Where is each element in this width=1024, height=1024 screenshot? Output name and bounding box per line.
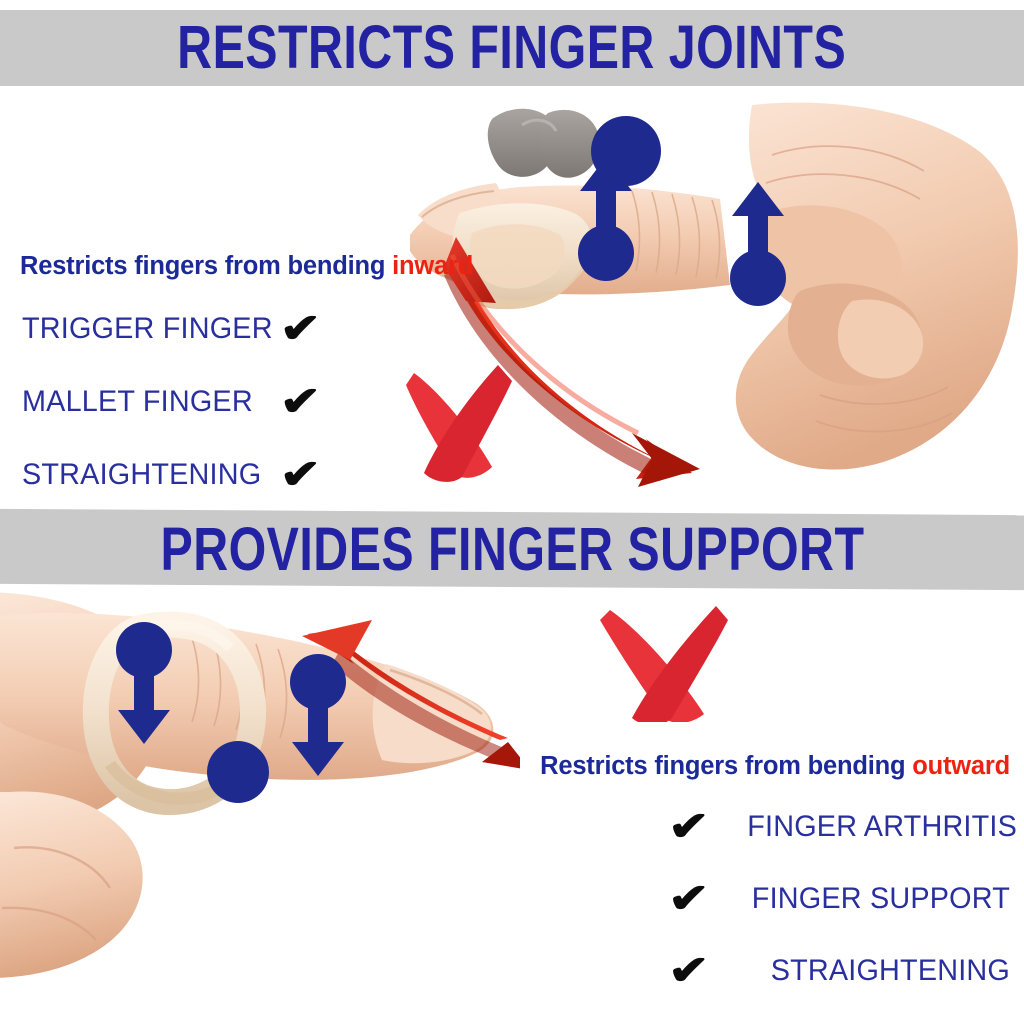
list-item-label: FINGER ARTHRITIS — [747, 810, 1017, 844]
pin-dot-center — [590, 115, 662, 187]
pin-down-right — [290, 654, 346, 778]
top-photo-illustration — [400, 95, 1024, 510]
list-item: ✔ FINGER ARTHRITIS — [672, 798, 1010, 856]
headline-prefix-bottom: Restricts fingers from bending — [540, 752, 912, 780]
list-item-label: STRAIGHTENING — [22, 458, 264, 492]
check-icon: ✔ — [280, 309, 321, 349]
headline-accent-inward: inward — [392, 252, 473, 280]
finger-splint-worn-top-view — [400, 95, 1024, 510]
feature-list-inward: TRIGGER FINGER ✔ MALLET FINGER ✔ STRAIGH… — [22, 300, 319, 504]
list-item: TRIGGER FINGER ✔ — [22, 300, 319, 358]
banner-title-bottom: PROVIDES FINGER SUPPORT — [160, 519, 864, 580]
list-item-label: FINGER SUPPORT — [747, 882, 1010, 916]
finger-splint-worn-side-view — [0, 592, 520, 1024]
infographic-canvas: RESTRICTS FINGER JOINTS Restricts finger… — [0, 0, 1024, 1024]
pin-dot-bottom — [206, 740, 270, 804]
list-item: STRAIGHTENING ✔ — [22, 446, 319, 504]
check-icon: ✔ — [280, 455, 321, 495]
list-item-label: TRIGGER FINGER — [22, 312, 264, 346]
check-icon: ✔ — [668, 807, 740, 847]
list-item-label: STRAIGHTENING — [747, 954, 1010, 988]
banner-title-top: RESTRICTS FINGER JOINTS — [178, 17, 847, 78]
banner-provides-finger-support: PROVIDES FINGER SUPPORT — [0, 509, 1024, 590]
check-icon: ✔ — [280, 382, 321, 422]
check-icon: ✔ — [668, 879, 740, 919]
thumb — [0, 791, 143, 978]
x-mark-shape — [600, 602, 730, 722]
pin-up-right — [730, 180, 786, 308]
headline-accent-outward: outward — [912, 752, 1010, 780]
list-item-label: MALLET FINGER — [22, 385, 264, 419]
list-item: ✔ STRAIGHTENING — [672, 942, 1010, 1000]
check-icon: ✔ — [668, 951, 740, 991]
pin-down-left — [116, 622, 172, 746]
banner-restricts-finger-joints: RESTRICTS FINGER JOINTS — [0, 10, 1024, 86]
list-item: MALLET FINGER ✔ — [22, 373, 319, 431]
red-x-mark — [406, 365, 512, 482]
bottom-photo-illustration — [0, 592, 520, 1024]
headline-inward: Restricts fingers from bending inward — [20, 252, 473, 281]
feature-list-outward: ✔ FINGER ARTHRITIS ✔ FINGER SUPPORT ✔ ST… — [672, 798, 1010, 1000]
headline-outward: Restricts fingers from bending outward — [540, 752, 1010, 781]
list-item: ✔ FINGER SUPPORT — [672, 870, 1010, 928]
red-x-mark-bottom — [600, 602, 730, 727]
headline-prefix-top: Restricts fingers from bending — [20, 252, 392, 280]
